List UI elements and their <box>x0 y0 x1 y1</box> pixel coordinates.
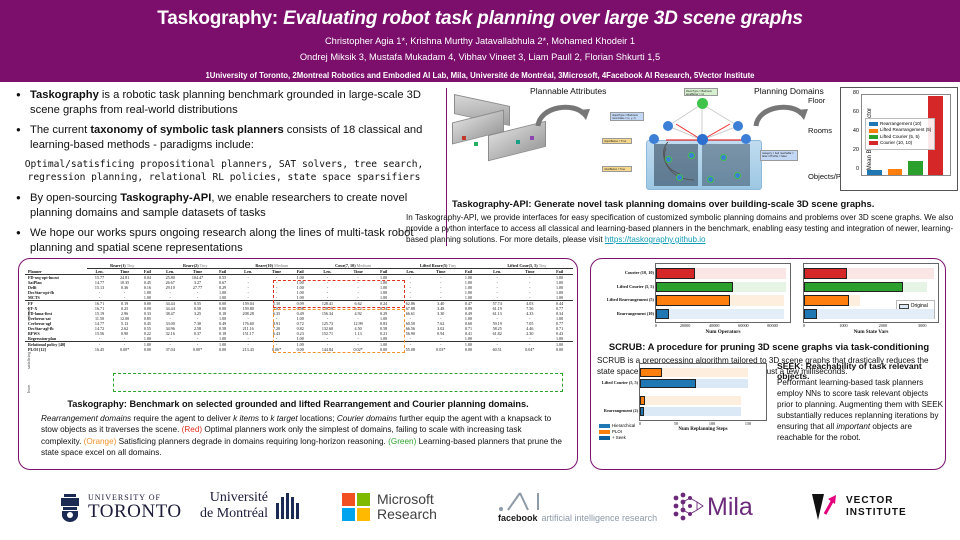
toronto-crest-icon <box>58 492 82 522</box>
bar-original <box>656 309 784 320</box>
layer-label-rooms: Rooms <box>808 126 832 135</box>
chart-xtick: 2000 <box>879 323 887 328</box>
legend-swatch <box>869 141 878 145</box>
logo-mila: Mila <box>672 492 753 522</box>
microsoft-wordmark: Microsoft Research <box>377 492 437 522</box>
bar-category-label: Lifted Rearrangement (5) <box>607 297 654 302</box>
udem-line-2: de Montréal <box>200 506 268 522</box>
seek-body-line-1: Performant learning-based task planners <box>777 378 923 387</box>
fair-mark-icon <box>498 492 556 512</box>
legend-swatch-hierarchical <box>599 424 610 429</box>
curved-arrow-icon <box>534 100 590 130</box>
legend-swatch-ploi <box>599 430 610 435</box>
benchmark-results-panel: optimal satisficing learn Rearr(1) TinyR… <box>18 258 578 470</box>
chart-xtick: 0 <box>803 323 805 328</box>
chart-xlabel: Num Operators <box>656 329 790 335</box>
scrub-operators-chart: Num Operators Courier (10, 10)Lifted Cou… <box>655 263 791 323</box>
bar-category-label: Courier (10, 10) <box>625 270 654 275</box>
attribute-tag-robot: robotBelow = True <box>602 166 632 172</box>
table-caption-title: Taskography: Benchmark on selected groun… <box>19 399 577 409</box>
legend-swatch <box>869 129 878 133</box>
chart-ytick: 80 <box>845 90 859 96</box>
caption-rearrangement-term: Rearrangement domains <box>41 414 131 423</box>
planner-paradigms-text: Optimal/satisficing propositional planne… <box>20 158 428 184</box>
legend-swatch <box>869 135 878 139</box>
seek-bar-ploi <box>640 368 662 377</box>
table-cell: 37.04 <box>158 347 183 352</box>
chart-xtick: 80000 <box>767 323 777 328</box>
logo-facebook-ai-research: facebook artificial intelligence researc… <box>498 492 657 523</box>
layer-label-floor: Floor <box>808 96 825 105</box>
bar-row: Lifted Rearrangement (5) <box>656 295 790 306</box>
chart-ytick: 0 <box>845 166 859 172</box>
legend-swatch <box>869 122 878 126</box>
chart-xtick: 3000 <box>918 323 926 328</box>
bar-row: Courier (10, 10) <box>656 268 790 279</box>
bar-lifted-rearrangement <box>888 169 903 175</box>
legend-label: + Seek <box>612 435 626 441</box>
seek-bar-row <box>640 368 766 377</box>
table-cell: 0.00 <box>546 347 573 352</box>
graph-node-object <box>734 172 741 179</box>
mesh-object <box>530 136 534 140</box>
chart-xtick: 0 <box>639 421 641 426</box>
seek-bar-seek <box>640 407 644 416</box>
chart-xtick: 0 <box>655 323 657 328</box>
bar-row <box>804 282 938 293</box>
chart-plot-area: Rearrangement (10) Lifted Rearrangement … <box>861 94 951 176</box>
table-cell: 0.04* <box>513 347 546 352</box>
bar-scrubbed <box>656 268 695 279</box>
chart-xtick: 50 <box>674 421 678 426</box>
caption-red-tag: (Red) <box>182 425 202 434</box>
graph-node-object <box>688 152 695 159</box>
legend-item: + Seek <box>599 435 635 441</box>
table-cell: 0.00* <box>183 347 213 352</box>
chart-xlabel: Num Replanning Steps <box>640 427 766 432</box>
curved-arrow-icon <box>752 100 808 130</box>
scrub-seek-panel: Num Operators Courier (10, 10)Lifted Cou… <box>590 258 946 470</box>
table-cell: 55.08 <box>395 347 425 352</box>
table-cell-planner: PLOI [12] <box>25 347 87 352</box>
fair-wordmark: facebook artificial intelligence researc… <box>498 513 657 523</box>
seek-bar-seek <box>640 379 696 388</box>
seek-category-label: Rearrangement (2) <box>604 408 638 413</box>
chart-xlabel: Num State Vars <box>804 329 938 335</box>
scrub-charts: Num Operators Courier (10, 10)Lifted Cou… <box>597 261 941 337</box>
vector-mark-icon <box>810 492 840 522</box>
table-row: PLOI [12]16.450.00*0.0037.040.00*0.00213… <box>25 347 573 352</box>
mila-wordmark: Mila <box>707 493 753 522</box>
chart-legend: Rearrangement (10) Lifted Rearrangement … <box>865 118 935 150</box>
scrub-statevars-chart: Num State Vars Original Scrubbed 0100020… <box>803 263 939 323</box>
bar-category-label: Lifted Courier (5, 5) <box>617 284 654 289</box>
poster-header: Taskography: Evaluating robot task plann… <box>0 0 960 82</box>
udem-wordmark: Université de Montréal <box>200 490 268 522</box>
attribute-tag-place: category = bed reachable = false rdTruth… <box>760 150 798 161</box>
attribute-tag-room: objectType = Bedroom roomClass = (x, y, … <box>610 112 644 121</box>
sponsor-logos: UNIVERSITY OF TORONTO Université de Mont… <box>0 478 960 540</box>
branching-factor-chart: Mean Branching Factor 80 60 40 20 0 Rear… <box>840 87 958 191</box>
bar-category-label: Rearrangement (10) <box>617 311 654 316</box>
seek-bar-row <box>640 396 766 405</box>
mesh-object <box>462 136 466 140</box>
table-cell: 0.00* <box>112 347 137 352</box>
seek-bar-hierarchical <box>640 407 741 416</box>
api-caption-body: In Taskography-API, we provide interface… <box>406 212 958 245</box>
intro-bullet-list: Taskography is a robotic task planning b… <box>14 88 442 153</box>
seek-bar-ploi <box>640 396 645 405</box>
graph-node-object <box>707 176 714 183</box>
seek-bar-row: Lifted Courier (5, 5) <box>640 379 766 388</box>
section-label-satisficing: satisficing <box>26 352 31 369</box>
attribute-tag-object: objectBelow = True <box>602 138 632 144</box>
logo-universite-de-montreal: Université de Montréal <box>200 490 301 522</box>
chart-xtick: 150 <box>745 421 751 426</box>
taskography-api-figure: Plannable Attributes <box>452 86 958 194</box>
mila-mark-icon <box>672 492 704 522</box>
seek-body-important: important <box>836 422 870 431</box>
results-table-wrapper: optimal satisficing learn Rearr(1) TinyR… <box>25 263 573 395</box>
seek-body-line-2: employ NNs to score task relevant object… <box>777 389 928 398</box>
facebook-label: facebook <box>498 513 538 523</box>
chart-xtick: 1000 <box>839 323 847 328</box>
caption-orange-tag: (Orange) <box>84 437 117 446</box>
plannable-attributes-label: Plannable Attributes <box>530 86 606 96</box>
fair-label: artificial intelligence research <box>542 513 658 523</box>
udem-mark-icon <box>273 493 301 519</box>
seek-body-line-3: prior to planning. Augmenting them with <box>777 400 919 409</box>
intro-section: Taskography is a robotic task planning b… <box>14 88 442 250</box>
caption-k-target: k target <box>270 414 297 423</box>
section-label-optimal: optimal <box>26 308 31 321</box>
chart-xtick: 100 <box>709 421 715 426</box>
title-main: Taskography: <box>157 8 278 29</box>
results-table: Rearr(1) TinyRearr(2) TinyRearr(10) Medi… <box>25 263 573 352</box>
table-cell: 213.43 <box>233 347 264 352</box>
title-rest: Evaluating robot task planning over larg… <box>283 8 803 29</box>
table-caption-body: Rearrangement domains require the agent … <box>41 413 563 459</box>
chart-xtick: 20000 <box>680 323 690 328</box>
vector-line-1: VECTOR <box>846 495 907 507</box>
graph-node-floor <box>697 98 708 109</box>
graph-node-object <box>720 154 727 161</box>
authors-line-1: Christopher Agia 1*, Krishna Murthy Jata… <box>0 35 960 48</box>
caption-courier-term: Courier domains <box>337 414 397 423</box>
table-cell: 0.06* <box>264 347 290 352</box>
intro-bullet-list-2: By open-sourcing Taskography-API, we ena… <box>14 191 442 256</box>
seek-bar-row: Rearrangement (2) <box>640 407 766 416</box>
bar-rearrangement <box>867 170 882 175</box>
list-item: The current taxonomy of symbolic task pl… <box>14 123 442 153</box>
taskography-link[interactable]: https://taskography.github.io <box>605 235 706 244</box>
chart-ytick: 60 <box>845 109 859 115</box>
bar-scrubbed <box>804 268 847 279</box>
seek-legend: Hierarchical PLOI + Seek <box>599 423 635 441</box>
page-title: Taskography: Evaluating robot task plann… <box>0 6 960 32</box>
seek-bar-hierarchical <box>640 396 741 405</box>
table-cell: 0.00 <box>372 347 395 352</box>
seek-plot-area: Num Replanning Steps Lifted Courier (5, … <box>639 363 767 421</box>
attribute-tag-floor: RoomType = Bedroom areaBelow = 11 <box>684 88 718 96</box>
api-caption-line-1: In Taskography-API, we provide interface… <box>406 213 893 222</box>
api-caption-title: Taskography-API: Generate novel task pla… <box>452 198 874 209</box>
caption-green-tag: (Green) <box>388 437 416 446</box>
legend-item: Courier (10, 10) <box>869 140 931 146</box>
graph-node-room <box>649 134 659 144</box>
udem-line-1: Université <box>200 490 268 506</box>
list-item: We hope our works spurs ongoing research… <box>14 226 442 256</box>
toronto-wordmark: UNIVERSITY OF TORONTO <box>88 493 182 522</box>
authors-line-2: Ondrej Miksik 3, Mustafa Mukadam 4, Vibh… <box>0 51 960 64</box>
logo-vector-institute: VECTOR INSTITUTE <box>810 492 907 522</box>
graph-node-room <box>733 121 743 131</box>
microsoft-line-1: Microsoft <box>377 492 437 507</box>
section-label-learn: learn <box>26 385 31 393</box>
table-cell: 16.45 <box>87 347 112 352</box>
scrub-caption-title: SCRUB: A procedure for pruning 3D scene … <box>591 341 947 352</box>
graph-node-room <box>663 121 673 131</box>
logo-university-of-toronto: UNIVERSITY OF TORONTO <box>58 492 182 522</box>
table-cell: 60.51 <box>481 347 514 352</box>
affiliations: 1University of Toronto, 2Montreal Roboti… <box>0 70 960 81</box>
microsoft-squares-icon <box>342 493 370 521</box>
graph-node-room <box>741 134 751 144</box>
graph-node-object <box>676 174 683 181</box>
bar-lifted-courier <box>908 161 923 175</box>
table-cell: 0.00 <box>212 347 232 352</box>
graph-node-room <box>697 134 708 145</box>
caption-text: to <box>259 414 270 423</box>
caption-text: Satisficing planners degrade in domains … <box>116 437 388 446</box>
caption-text: locations; <box>298 414 337 423</box>
seek-chart: Num Replanning Steps Lifted Courier (5, … <box>599 363 769 441</box>
chart-ytick: 20 <box>845 147 859 153</box>
caption-k-items: k items <box>233 414 259 423</box>
bar-row <box>804 268 938 279</box>
table-cell: 0.00 <box>137 347 157 352</box>
bar-scrubbed <box>656 282 733 293</box>
legend-swatch-seek <box>599 436 610 441</box>
bar-row: Rearrangement (10) <box>656 309 790 320</box>
bar-scrubbed <box>804 282 903 293</box>
bar-row <box>804 309 938 320</box>
seek-caption-body: Performant learning-based task planners … <box>777 377 945 443</box>
chart-ytick: 40 <box>845 128 859 134</box>
legend-label: Courier (10, 10) <box>880 140 912 146</box>
seek-category-label: Lifted Courier (5, 5) <box>602 380 638 385</box>
table-cell: 0.02* <box>344 347 372 352</box>
poster-root: Taskography: Evaluating robot task plann… <box>0 0 960 540</box>
mesh-object <box>474 142 478 146</box>
bar-scrubbed <box>656 309 669 320</box>
bar-scrubbed <box>656 295 730 306</box>
microsoft-line-2: Research <box>377 507 437 522</box>
vector-line-2: INSTITUTE <box>846 507 907 519</box>
table-cell: 0.00 <box>290 347 311 352</box>
table-cell: 0.00 <box>456 347 481 352</box>
table-cell: 0.03* <box>426 347 456 352</box>
mesh-object <box>516 140 520 144</box>
highlight-box-green <box>113 373 563 392</box>
list-item: Taskography is a robotic task planning b… <box>14 88 442 118</box>
list-item: By open-sourcing Taskography-API, we ena… <box>14 191 442 221</box>
toronto-line-2: TORONTO <box>88 502 182 522</box>
vector-wordmark: VECTOR INSTITUTE <box>846 495 907 519</box>
planning-domains-label: Planning Domains <box>754 86 824 96</box>
chart-xtick: 60000 <box>738 323 748 328</box>
bar-scrubbed <box>804 295 849 306</box>
bar-row: Lifted Courier (5, 5) <box>656 282 790 293</box>
graph-node-object <box>665 156 672 163</box>
table-cell: 144.84 <box>311 347 344 352</box>
logo-microsoft-research: Microsoft Research <box>342 492 437 522</box>
bar-scrubbed <box>804 309 817 320</box>
bar-row <box>804 295 938 306</box>
caption-text: require the agent to deliver <box>131 414 233 423</box>
bar-original <box>804 309 934 320</box>
chart-xtick: 40000 <box>709 323 719 328</box>
